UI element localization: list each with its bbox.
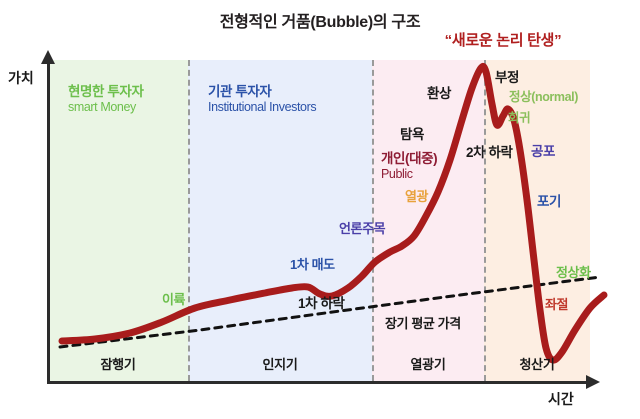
stage-label: 탐욕 <box>400 123 424 143</box>
stage-label: 2차 하락 <box>466 141 513 161</box>
stage-label: 언론주목 <box>339 218 385 237</box>
bubble-chart-figure: 전형적인 거품(Bubble)의 구조 “새로운 논리 탄생” 가치 시간 현명… <box>0 0 640 419</box>
stage-label: 환상 <box>427 82 451 102</box>
investor-group-subtitle: Institutional Investors <box>208 100 316 114</box>
stage-label: 정상(normal) <box>509 86 578 105</box>
investor-group-title: 현명한 투자자 <box>68 80 143 100</box>
stage-label: 정상화 <box>556 262 591 281</box>
phase-name-label: 잠행기 <box>48 354 188 373</box>
stage-label: 1차 매도 <box>290 254 335 273</box>
stage-label: 포기 <box>537 190 561 210</box>
trendline-path <box>60 277 600 347</box>
investor-group: 현명한 투자자smart Money <box>68 80 143 114</box>
phase-name-label: 인지기 <box>188 354 372 373</box>
stage-label: 1차 하락 <box>298 292 345 312</box>
phase-name-label: 청산기 <box>484 354 590 373</box>
stage-label: 회귀 <box>508 107 530 126</box>
investor-group-title: 기관 투자자 <box>208 80 316 100</box>
stage-label: 좌절 <box>545 294 568 313</box>
stage-label: 열광 <box>405 186 428 205</box>
phase-name-label: 열광기 <box>372 354 484 373</box>
investor-group: 개인(대중)Public <box>381 147 437 181</box>
investor-group: 기관 투자자Institutional Investors <box>208 80 316 114</box>
investor-group-subtitle: Public <box>381 167 437 181</box>
stage-label: 장기 평균 가격 <box>385 313 461 332</box>
investor-group-subtitle: smart Money <box>68 100 143 114</box>
stage-label: 이륙 <box>162 289 185 308</box>
investor-group-title: 개인(대중) <box>381 147 437 167</box>
stage-label: 공포 <box>531 140 555 160</box>
stage-label: 부정 <box>495 66 519 86</box>
